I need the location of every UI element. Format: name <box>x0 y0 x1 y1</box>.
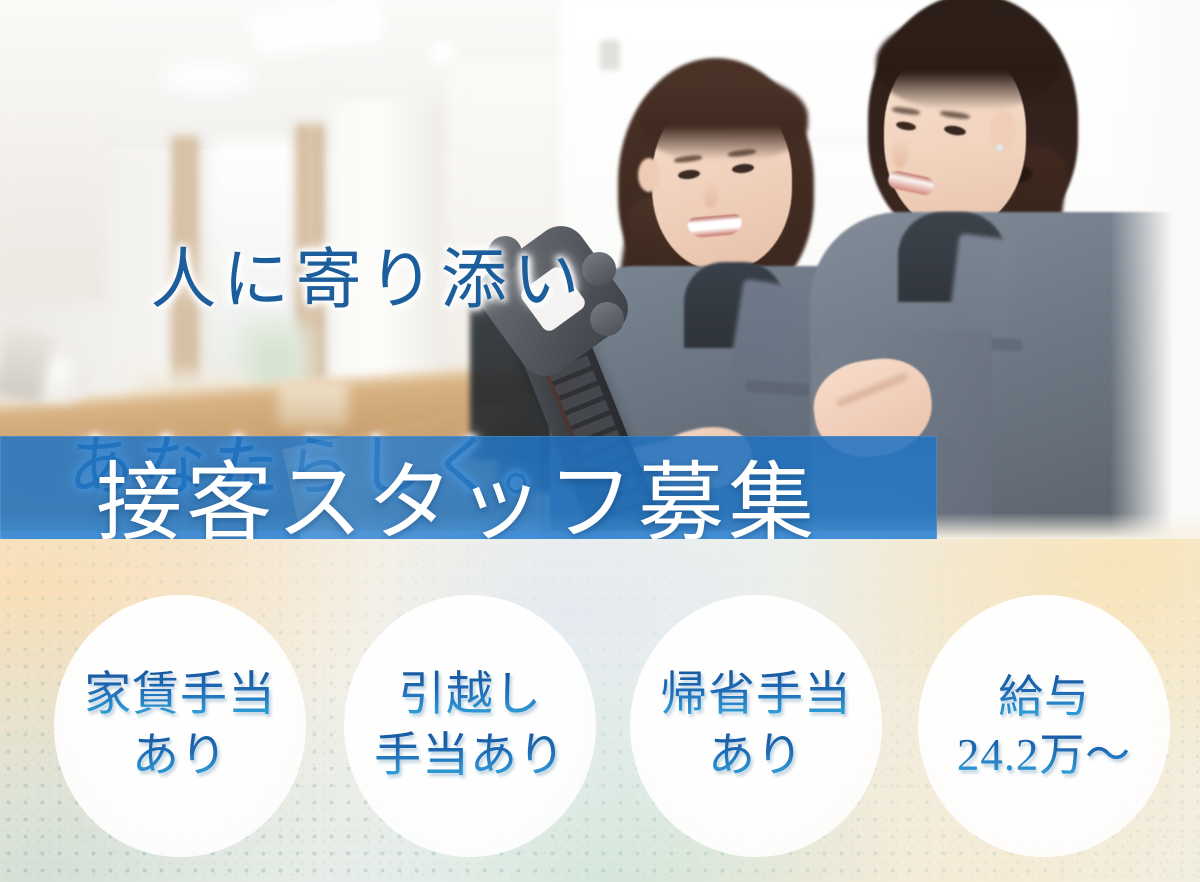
headline-line-1: 人に寄り添い <box>150 244 586 317</box>
benefit-circle-homecoming-allowance: 帰省手当 あり <box>630 595 882 857</box>
fringe <box>640 74 808 160</box>
benefit-line-1: 家賃手当 <box>84 665 276 726</box>
benefit-line-1: 給与 <box>998 668 1090 727</box>
benefit-circle-list: 家賃手当 あり 引越し 手当あり 帰省手当 あり 給与 24.2万〜 <box>0 539 1200 882</box>
ear <box>990 110 1016 150</box>
benefit-circle-rent-allowance: 家賃手当 あり <box>54 595 306 857</box>
benefit-line-2: 24.2万〜 <box>957 726 1131 785</box>
benefit-circle-moving-allowance: 引越し 手当あり <box>344 595 596 857</box>
benefit-line-1: 帰省手当 <box>660 665 852 726</box>
handle-knob <box>590 302 624 336</box>
benefit-line-1: 引越し <box>398 665 542 726</box>
earring <box>996 144 1003 151</box>
benefit-circle-salary: 給与 24.2万〜 <box>918 595 1170 857</box>
benefit-line-2: あり <box>708 726 804 787</box>
benefits-band: 家賃手当 あり 引越し 手当あり 帰省手当 あり 給与 24.2万〜 <box>0 539 1200 882</box>
recruitment-poster: 人に寄り添い あなたらしく。 接客スタッフ募集 家賃手当 あり 引越し 手当あり <box>0 0 1200 882</box>
nose <box>704 182 718 208</box>
benefit-line-2: あり <box>132 726 228 787</box>
ceiling-light-icon <box>322 8 382 30</box>
banner-title: 接客スタッフ募集 <box>96 460 818 546</box>
ear <box>638 158 660 192</box>
benefit-line-2: 手当あり <box>374 726 566 787</box>
nose <box>892 136 908 168</box>
fringe <box>876 14 1060 110</box>
handle-knob <box>582 252 616 286</box>
ceiling-light-icon <box>160 62 256 92</box>
